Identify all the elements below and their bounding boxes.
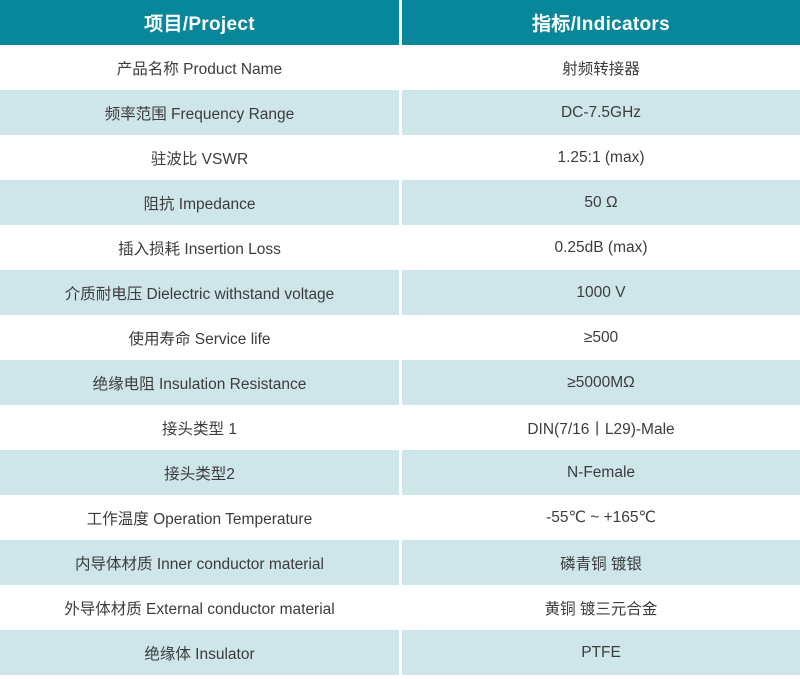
cell-indicator: 0.25dB (max) (402, 225, 800, 270)
specification-table: 项目/Project 指标/Indicators 产品名称 Product Na… (0, 0, 800, 675)
table-row: 阻抗 Impedance50 Ω (0, 180, 800, 225)
table-row: 绝缘体 InsulatorPTFE (0, 630, 800, 675)
table-row: 使用寿命 Service life≥500 (0, 315, 800, 360)
cell-project: 接头类型2 (0, 450, 399, 495)
column-header-project: 项目/Project (0, 0, 399, 45)
cell-indicator: 黄铜 镀三元合金 (402, 585, 800, 630)
cell-project: 阻抗 Impedance (0, 180, 399, 225)
cell-project: 绝缘体 Insulator (0, 630, 399, 675)
table-row: 插入损耗 Insertion Loss0.25dB (max) (0, 225, 800, 270)
column-header-indicators: 指标/Indicators (402, 0, 800, 45)
table-row: 接头类型2N-Female (0, 450, 800, 495)
table-row: 内导体材质 Inner conductor material磷青铜 镀银 (0, 540, 800, 585)
cell-project: 驻波比 VSWR (0, 135, 399, 180)
cell-indicator: DC-7.5GHz (402, 90, 800, 135)
cell-project: 介质耐电压 Dielectric withstand voltage (0, 270, 399, 315)
cell-project: 接头类型 1 (0, 405, 399, 450)
table-row: 介质耐电压 Dielectric withstand voltage1000 V (0, 270, 800, 315)
cell-project: 工作温度 Operation Temperature (0, 495, 399, 540)
cell-indicator: ≥5000MΩ (402, 360, 800, 405)
cell-project: 外导体材质 External conductor material (0, 585, 399, 630)
cell-indicator: 50 Ω (402, 180, 800, 225)
cell-indicator: 射频转接器 (402, 45, 800, 90)
cell-project: 内导体材质 Inner conductor material (0, 540, 399, 585)
cell-indicator: 1000 V (402, 270, 800, 315)
cell-indicator: DIN(7/16丨L29)-Male (402, 405, 800, 450)
table-row: 频率范围 Frequency RangeDC-7.5GHz (0, 90, 800, 135)
cell-project: 插入损耗 Insertion Loss (0, 225, 399, 270)
table-row: 驻波比 VSWR1.25:1 (max) (0, 135, 800, 180)
cell-indicator: ≥500 (402, 315, 800, 360)
cell-indicator: N-Female (402, 450, 800, 495)
cell-project: 绝缘电阻 Insulation Resistance (0, 360, 399, 405)
table-row: 产品名称 Product Name射频转接器 (0, 45, 800, 90)
cell-project: 产品名称 Product Name (0, 45, 399, 90)
table-row: 绝缘电阻 Insulation Resistance≥5000MΩ (0, 360, 800, 405)
cell-project: 频率范围 Frequency Range (0, 90, 399, 135)
cell-indicator: 1.25:1 (max) (402, 135, 800, 180)
cell-project: 使用寿命 Service life (0, 315, 399, 360)
cell-indicator: PTFE (402, 630, 800, 675)
table-header: 项目/Project 指标/Indicators (0, 0, 800, 45)
table-row: 工作温度 Operation Temperature-55℃ ~ +165℃ (0, 495, 800, 540)
table-body: 产品名称 Product Name射频转接器频率范围 Frequency Ran… (0, 45, 800, 675)
header-row: 项目/Project 指标/Indicators (0, 0, 800, 45)
cell-indicator: 磷青铜 镀银 (402, 540, 800, 585)
table-row: 接头类型 1DIN(7/16丨L29)-Male (0, 405, 800, 450)
table-row: 外导体材质 External conductor material黄铜 镀三元合… (0, 585, 800, 630)
cell-indicator: -55℃ ~ +165℃ (402, 495, 800, 540)
